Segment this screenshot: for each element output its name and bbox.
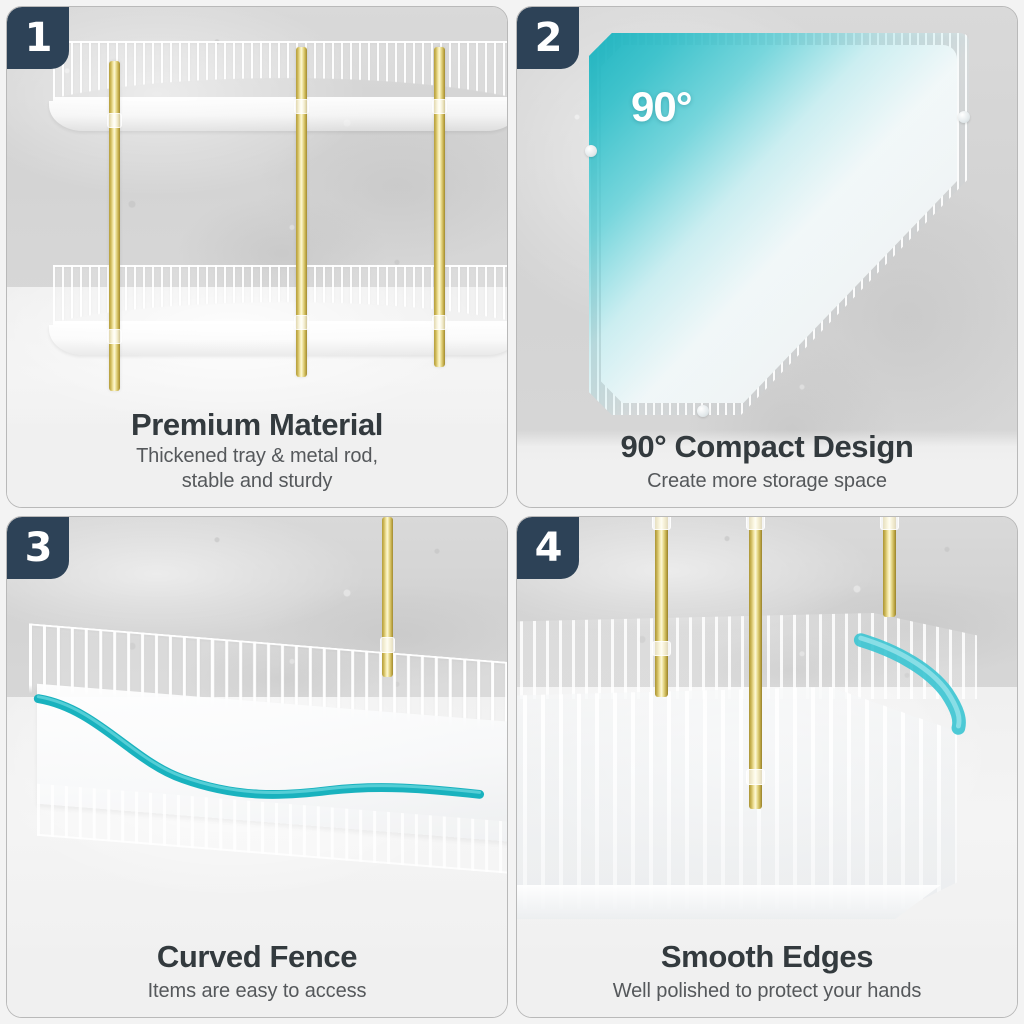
step-badge-4: 4 (517, 517, 579, 579)
caption-block-1: Premium Material Thickened tray & metal … (7, 408, 507, 508)
gold-rod-center (296, 47, 307, 377)
panel-title: 90° Compact Design (533, 430, 1001, 465)
panel-subtitle: Items are easy to access (23, 979, 491, 1003)
caption-block-2: 90° Compact Design Create more storage s… (517, 430, 1017, 507)
tray-nub-left (585, 145, 597, 157)
feature-panel-4: 4 Smooth Edges Well polished to protect … (516, 516, 1018, 1018)
feature-panel-2: 90° 2 90° Compact Design Create more sto… (516, 6, 1018, 508)
gold-rod-left (655, 517, 668, 697)
gold-rod-right (883, 517, 896, 617)
feature-panel-3: 3 Curved Fence Items are easy to access (6, 516, 508, 1018)
basket-base (517, 885, 959, 919)
step-number: 4 (535, 528, 562, 568)
panel-subtitle: Create more storage space (533, 469, 1001, 493)
panel-title: Curved Fence (23, 940, 491, 975)
panel-subtitle-line2: stable and sturdy (23, 469, 491, 493)
panel-title: Premium Material (23, 408, 491, 443)
panel-title: Smooth Edges (533, 940, 1001, 975)
feature-panel-1: 1 Premium Material Thickened tray & meta… (6, 6, 508, 508)
step-number: 2 (535, 18, 562, 58)
feature-grid: 1 Premium Material Thickened tray & meta… (0, 0, 1024, 1024)
step-badge-1: 1 (7, 7, 69, 69)
basket-body (517, 687, 957, 909)
step-badge-2: 2 (517, 7, 579, 69)
angle-label: 90° (631, 83, 692, 131)
basket-rear-wall (517, 613, 977, 699)
step-number: 3 (25, 528, 52, 568)
step-badge-3: 3 (7, 517, 69, 579)
tray-nub-bottom (697, 405, 709, 417)
tray-nub-right (958, 111, 970, 123)
caption-block-4: Smooth Edges Well polished to protect yo… (517, 940, 1017, 1017)
corner-tray-topview: 90° (589, 33, 969, 415)
gold-rod-left (109, 61, 120, 391)
panel-subtitle-line1: Thickened tray & metal rod, (23, 444, 491, 468)
step-number: 1 (25, 18, 52, 58)
gold-rod (382, 517, 393, 677)
panel-subtitle: Well polished to protect your hands (533, 979, 1001, 1003)
gold-rod-right (434, 47, 445, 367)
gold-rod-center (749, 517, 762, 809)
caption-block-3: Curved Fence Items are easy to access (7, 940, 507, 1017)
